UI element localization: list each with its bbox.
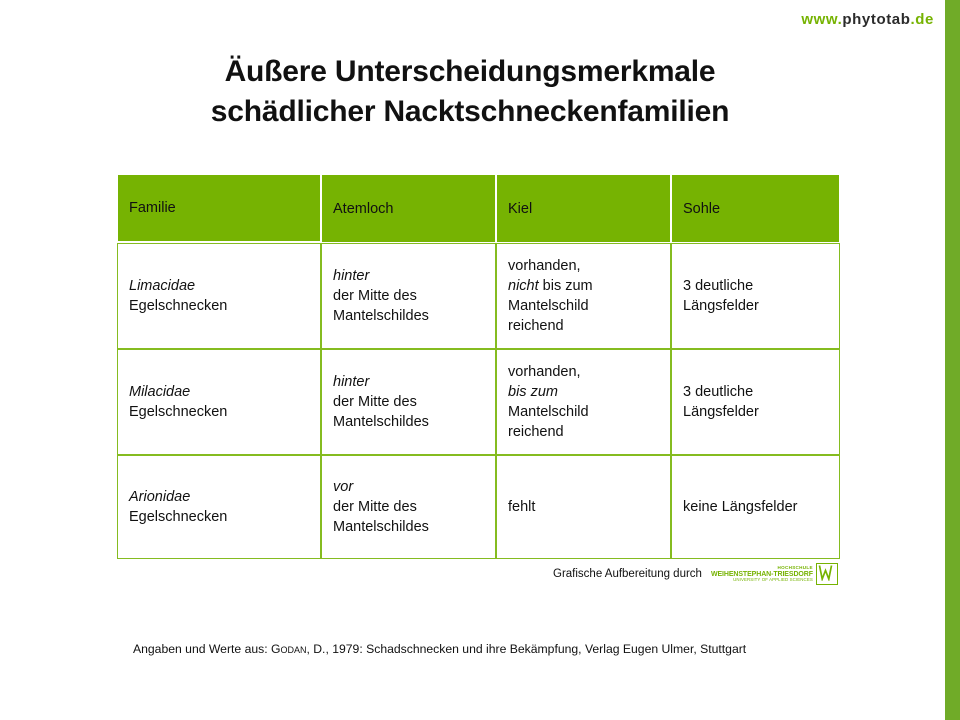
atemloch-line-3: Mantelschildes [333, 412, 484, 432]
atemloch-emphasis: vor [333, 477, 484, 497]
kiel-line-4: reichend [508, 422, 659, 442]
brand-name: phytotab [842, 11, 910, 28]
atemloch-emphasis: hinter [333, 266, 484, 286]
family-latin-name: Arionidae [129, 487, 309, 507]
site-brand: www.phytotab.de [801, 11, 934, 28]
cell-family-arionidae: Arionidae Egelschnecken [117, 455, 321, 559]
hswt-logo-line-3: UNIVERSITY OF APPLIED SCIENCES [733, 578, 813, 582]
atemloch-emphasis: hinter [333, 372, 484, 392]
kiel-line-1: vorhanden, [508, 256, 659, 276]
brand-tld: .de [911, 11, 934, 28]
family-common-name: Egelschnecken [129, 402, 309, 422]
kiel-line-1: vorhanden, [508, 362, 659, 382]
cell-kiel-arionidae: fehlt [496, 455, 671, 559]
source-prefix: Angaben und Werte aus: [133, 642, 271, 656]
brand-prefix: www. [801, 11, 842, 28]
atemloch-line-2: der Mitte des [333, 497, 484, 517]
atemloch-line-3: Mantelschildes [333, 306, 484, 326]
kiel-line-1: fehlt [508, 497, 659, 517]
right-accent-bar [945, 0, 960, 720]
comparison-table-wrapper: Familie Atemloch Kiel Sohle Limacidae Eg… [117, 174, 840, 559]
column-header-sohle: Sohle [671, 174, 840, 243]
cell-sohle-milacidae: 3 deutliche Längsfelder [671, 349, 840, 455]
atemloch-line-2: der Mitte des [333, 286, 484, 306]
cell-kiel-limacidae: vorhanden, nicht bis zum Mantelschild re… [496, 243, 671, 349]
sohle-line-1: 3 deutliche [683, 382, 828, 402]
comparison-table: Familie Atemloch Kiel Sohle Limacidae Eg… [117, 174, 840, 559]
cell-family-limacidae: Limacidae Egelschnecken [117, 243, 321, 349]
cell-kiel-milacidae: vorhanden, bis zum Mantelschild reichend [496, 349, 671, 455]
atemloch-line-3: Mantelschildes [333, 517, 484, 537]
graphic-credit: Grafische Aufbereitung durch HOCHSCHULE … [553, 563, 838, 585]
sohle-line-2: Längsfelder [683, 402, 828, 422]
column-header-kiel: Kiel [496, 174, 671, 243]
cell-atemloch-milacidae: hinter der Mitte des Mantelschildes [321, 349, 496, 455]
page-title-line-2: schädlicher Nacktschneckenfamilien [120, 92, 820, 132]
family-common-name: Egelschnecken [129, 507, 309, 527]
column-header-familie: Familie [117, 174, 321, 243]
kiel-emphasis: bis zum [508, 384, 558, 400]
source-rest: , D., 1979: Schadschnecken und ihre Bekä… [306, 642, 746, 656]
w-mark-icon [816, 563, 838, 585]
page-title: Äußere Unterscheidungsmerkmale schädlich… [120, 52, 820, 131]
sohle-line-2: Längsfelder [683, 296, 828, 316]
hswt-logo: HOCHSCHULE WEIHENSTEPHAN-TRIESDORF UNIVE… [711, 563, 838, 585]
kiel-line-2-rest: bis zum [539, 278, 593, 294]
graphic-credit-label: Grafische Aufbereitung durch [553, 568, 702, 580]
family-latin-name: Milacidae [129, 382, 309, 402]
sohle-line-1: keine Längsfelder [683, 497, 828, 517]
cell-sohle-arionidae: keine Längsfelder [671, 455, 840, 559]
table-header-row: Familie Atemloch Kiel Sohle [117, 174, 840, 243]
kiel-line-3: Mantelschild [508, 402, 659, 422]
kiel-line-4: reichend [508, 316, 659, 336]
table-row: Arionidae Egelschnecken vor der Mitte de… [117, 455, 840, 559]
cell-sohle-limacidae: 3 deutliche Längsfelder [671, 243, 840, 349]
hswt-logo-text: HOCHSCHULE WEIHENSTEPHAN-TRIESDORF UNIVE… [711, 566, 813, 582]
kiel-emphasis: nicht [508, 278, 539, 294]
cell-family-milacidae: Milacidae Egelschnecken [117, 349, 321, 455]
table-row: Milacidae Egelschnecken hinter der Mitte… [117, 349, 840, 455]
page-title-line-1: Äußere Unterscheidungsmerkmale [120, 52, 820, 92]
sohle-line-1: 3 deutliche [683, 276, 828, 296]
cell-atemloch-limacidae: hinter der Mitte des Mantelschildes [321, 243, 496, 349]
family-common-name: Egelschnecken [129, 296, 309, 316]
table-row: Limacidae Egelschnecken hinter der Mitte… [117, 243, 840, 349]
source-note: Angaben und Werte aus: Godan, D., 1979: … [133, 640, 848, 660]
family-latin-name: Limacidae [129, 276, 309, 296]
source-author: Godan [271, 642, 306, 656]
cell-atemloch-arionidae: vor der Mitte des Mantelschildes [321, 455, 496, 559]
atemloch-line-2: der Mitte des [333, 392, 484, 412]
kiel-line-3: Mantelschild [508, 296, 659, 316]
column-header-atemloch: Atemloch [321, 174, 496, 243]
